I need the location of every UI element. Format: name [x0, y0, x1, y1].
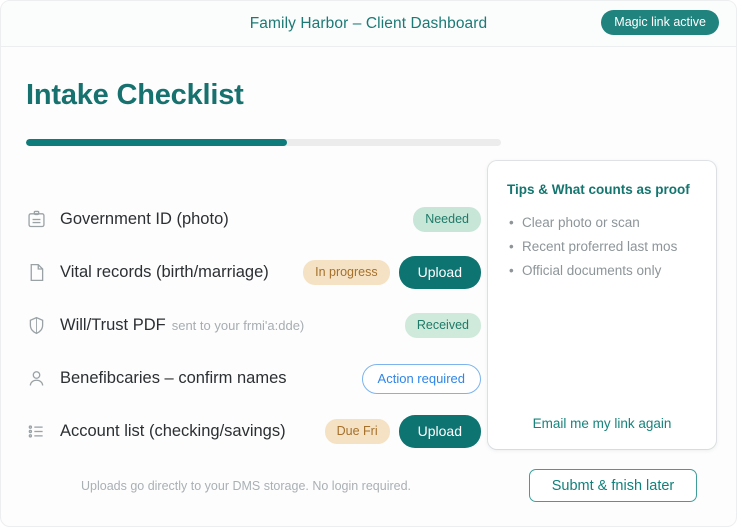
status-badge: Due Fri — [325, 419, 390, 444]
checklist-item-label: Benefibcaries – confirm names — [60, 369, 287, 388]
tips-list-item: Official documents only — [507, 259, 697, 283]
checklist-row[interactable]: Benefibcaries – confirm names Action req… — [26, 352, 481, 405]
checklist-item-label: Government ID (photo) — [60, 210, 229, 229]
tips-list-item: Clear photo or scan — [507, 211, 697, 235]
submit-finish-later-button[interactable]: Submt & fnish later — [529, 469, 697, 502]
checklist-row[interactable]: Will/Trust PDF sent to your frmi'a:dde) … — [26, 299, 481, 352]
id-card-icon — [26, 209, 60, 230]
checklist-row[interactable]: Account list (checking/savings) Due Fri … — [26, 405, 481, 458]
action-required-button[interactable]: Action required — [362, 364, 481, 394]
status-badge: Received — [405, 313, 481, 338]
intake-checklist: Government ID (photo) Needed Vital recor… — [26, 193, 481, 458]
client-dashboard-page: Family Harbor – Client Dashboard Magic l… — [0, 0, 737, 527]
tips-list: Clear photo or scan Recent proferred las… — [507, 211, 697, 283]
upload-button[interactable]: Upload — [399, 256, 481, 289]
top-bar: Family Harbor – Client Dashboard Magic l… — [1, 1, 736, 47]
checklist-item-label: Vital records (birth/marriage) — [60, 263, 269, 282]
email-link-again-link[interactable]: Email me my link again — [488, 416, 716, 431]
person-icon — [26, 368, 60, 389]
tips-card: Tips & What counts as proof Clear photo … — [488, 161, 716, 449]
intake-progress-bar — [26, 139, 501, 146]
page-title: Intake Checklist — [26, 79, 244, 112]
intake-progress-fill — [26, 139, 287, 146]
magic-link-status-badge[interactable]: Magic link active — [601, 10, 719, 35]
shield-icon — [26, 315, 60, 336]
status-badge: In progress — [303, 260, 390, 285]
document-icon — [26, 262, 60, 283]
app-title: Family Harbor – Client Dashboard — [250, 15, 488, 33]
footer-note: Uploads go directly to your DMS storage.… — [1, 479, 491, 493]
checklist-item-subtext: sent to your frmi'a:dde) — [172, 318, 305, 333]
checklist-item-label: Will/Trust PDF — [60, 316, 166, 335]
checklist-item-label: Account list (checking/savings) — [60, 422, 286, 441]
checklist-row[interactable]: Vital records (birth/marriage) In progre… — [26, 246, 481, 299]
status-badge: Needed — [413, 207, 481, 232]
list-icon — [26, 421, 60, 442]
tips-card-title: Tips & What counts as proof — [507, 182, 697, 197]
tips-list-item: Recent proferred last mos — [507, 235, 697, 259]
checklist-row[interactable]: Government ID (photo) Needed — [26, 193, 481, 246]
upload-button[interactable]: Upload — [399, 415, 481, 448]
